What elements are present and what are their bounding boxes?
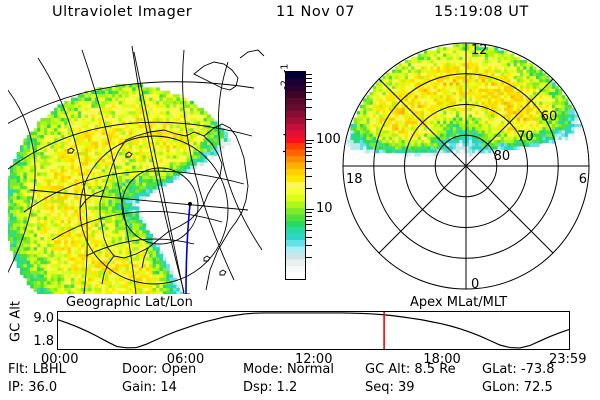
aurora-cell <box>491 86 495 90</box>
aurora-cell <box>64 138 68 142</box>
aurora-cell <box>427 86 431 90</box>
aurora-cell <box>142 166 146 170</box>
aurora-cell <box>163 91 167 95</box>
aurora-cell <box>173 162 177 166</box>
aurora-cell <box>398 66 402 70</box>
aurora-cell <box>180 155 184 159</box>
aurora-cell <box>197 155 201 159</box>
aurora-cell <box>427 102 431 106</box>
aurora-cell <box>74 268 78 272</box>
aurora-cell <box>108 108 112 112</box>
aurora-cell <box>85 155 89 159</box>
aurora-cell <box>510 111 514 115</box>
aurora-cell <box>115 111 119 115</box>
aurora-cell <box>440 124 444 128</box>
aurora-cell <box>54 240 58 244</box>
aurora-cell <box>159 125 163 129</box>
aurora-cell <box>418 146 422 150</box>
aurora-cell <box>85 227 89 231</box>
aurora-cell <box>427 146 431 150</box>
aurora-cell <box>498 140 502 144</box>
aurora-cell <box>108 217 112 221</box>
aurora-cell <box>17 227 21 231</box>
aurora-cell <box>139 223 143 227</box>
aurora-cell <box>112 220 116 224</box>
aurora-cell <box>88 274 92 278</box>
aurora-cell <box>64 257 68 261</box>
aurora-cell <box>376 150 380 154</box>
aurora-cell <box>204 111 208 115</box>
aurora-cell <box>142 220 146 224</box>
aurora-cell <box>30 261 34 265</box>
aurora-cell <box>469 143 473 147</box>
aurora-cell <box>64 217 68 221</box>
aurora-cell <box>430 63 434 67</box>
aurora-cell <box>146 230 150 234</box>
aurora-cell <box>434 82 438 86</box>
aurora-cell <box>17 240 21 244</box>
aurora-cell <box>74 104 78 108</box>
aurora-cell <box>204 159 208 163</box>
aurora-cell <box>176 291 180 294</box>
aurora-cell <box>386 111 390 115</box>
aurora-cell <box>102 254 106 258</box>
aurora-cell <box>68 247 72 251</box>
aurora-cell <box>122 111 126 115</box>
aurora-cell <box>170 121 174 125</box>
aurora-cell <box>507 95 511 99</box>
aurora-cell <box>163 98 167 102</box>
aurora-cell <box>129 159 133 163</box>
aurora-cell <box>64 128 68 132</box>
aurora-cell <box>173 104 177 108</box>
aurora-cell <box>102 203 106 207</box>
aurora-cell <box>13 193 17 197</box>
aurora-cell <box>102 285 106 289</box>
aurora-cell <box>421 98 425 102</box>
aurora-cell <box>405 76 409 80</box>
aurora-cell <box>112 274 116 278</box>
aurora-cell <box>91 91 95 95</box>
aurora-cell <box>125 145 129 149</box>
aurora-cell <box>68 138 72 142</box>
aurora-cell <box>125 125 129 129</box>
aurora-cell <box>37 179 41 183</box>
aurora-cell <box>51 149 55 153</box>
aurora-cell <box>136 125 140 129</box>
aurora-cell <box>142 176 146 180</box>
aurora-cell <box>136 118 140 122</box>
aurora-cell <box>170 285 174 289</box>
aurora-cell <box>427 63 431 67</box>
aurora-cell <box>47 268 51 272</box>
aurora-cell <box>47 213 51 217</box>
aurora-cell <box>395 70 399 74</box>
aurora-cell <box>443 130 447 134</box>
aurora-cell <box>98 281 102 285</box>
aurora-cell <box>180 162 184 166</box>
aurora-cell <box>514 105 518 109</box>
aurora-cell <box>491 114 495 118</box>
aurora-cell <box>54 108 58 112</box>
aurora-cell <box>40 193 44 197</box>
aurora-cell <box>88 257 92 261</box>
aurora-cell <box>105 104 109 108</box>
aurora-cell <box>386 127 390 131</box>
aurora-cell <box>366 108 370 112</box>
aurora-cell <box>163 108 167 112</box>
aurora-cell <box>23 189 27 193</box>
aurora-cell <box>71 186 75 190</box>
aurora-cell <box>366 140 370 144</box>
aurora-cell <box>64 145 68 149</box>
aurora-cell <box>61 159 65 163</box>
aurora-cell <box>498 121 502 125</box>
aurora-cell <box>392 73 396 77</box>
aurora-cell <box>156 285 160 289</box>
aurora-cell <box>40 244 44 248</box>
aurora-cell <box>156 268 160 272</box>
aurora-cell <box>20 152 24 156</box>
aurora-cell <box>395 118 399 122</box>
aurora-cell <box>68 271 72 275</box>
aurora-cell <box>421 102 425 106</box>
aurora-cell <box>57 200 61 204</box>
aurora-cell <box>475 114 479 118</box>
colorbar-minor-tick <box>306 99 312 100</box>
aurora-cell <box>64 213 68 217</box>
aurora-cell <box>176 166 180 170</box>
aurora-cell <box>85 115 89 119</box>
aurora-cell <box>57 291 61 294</box>
aurora-cell <box>98 251 102 255</box>
aurora-cell <box>421 127 425 131</box>
aurora-cell <box>539 102 543 106</box>
aurora-cell <box>450 47 454 51</box>
aurora-cell <box>115 206 119 210</box>
aurora-cell <box>453 127 457 131</box>
aurora-cell <box>119 268 123 272</box>
aurora-cell <box>57 220 61 224</box>
aurora-cell <box>491 79 495 83</box>
aurora-cell <box>440 98 444 102</box>
aurora-cell <box>34 271 38 275</box>
aurora-cell <box>170 172 174 176</box>
aurora-cell <box>44 138 48 142</box>
aurora-cell <box>95 223 99 227</box>
aurora-cell <box>459 63 463 67</box>
aurora-cell <box>517 92 521 96</box>
aurora-cell <box>68 104 72 108</box>
aurora-cell <box>125 111 129 115</box>
aurora-cell <box>54 186 58 190</box>
aurora-cell <box>430 137 434 141</box>
aurora-cell <box>411 98 415 102</box>
aurora-cell <box>156 274 160 278</box>
colorbar-minor-tick <box>306 82 312 83</box>
aurora-cell <box>139 285 143 289</box>
aurora-cell <box>459 130 463 134</box>
aurora-cell <box>54 200 58 204</box>
aurora-cell <box>504 134 508 138</box>
aurora-cell <box>95 203 99 207</box>
aurora-cell <box>139 179 143 183</box>
colorbar-scale[interactable] <box>285 71 306 280</box>
aurora-cell <box>405 63 409 67</box>
aurora-cell <box>491 47 495 51</box>
aurora-cell <box>173 291 177 294</box>
aurora-cell <box>61 227 65 231</box>
aurora-cell <box>74 240 78 244</box>
aurora-cell <box>129 206 133 210</box>
aurora-cell <box>408 79 412 83</box>
aurora-cell <box>402 63 406 67</box>
aurora-cell <box>398 118 402 122</box>
aurora-cell <box>159 91 163 95</box>
aurora-cell <box>204 149 208 153</box>
aurora-cell <box>173 108 177 112</box>
aurora-cell <box>88 230 92 234</box>
aurora-cell <box>64 285 68 289</box>
aurora-cell <box>95 244 99 248</box>
aurora-cell <box>119 288 123 292</box>
aurora-cell <box>379 98 383 102</box>
aurora-cell <box>88 206 92 210</box>
aurora-cell <box>357 150 361 154</box>
aurora-cell <box>78 281 82 285</box>
aurora-cell <box>37 135 41 139</box>
aurora-cell <box>115 159 119 163</box>
aurora-cell <box>34 138 38 142</box>
aurora-cell <box>122 94 126 98</box>
aurora-cell <box>139 121 143 125</box>
aurora-cell <box>115 189 119 193</box>
aurora-cell <box>129 189 133 193</box>
aurora-cell <box>112 281 116 285</box>
aurora-cell <box>81 264 85 268</box>
aurora-cell <box>153 288 157 292</box>
aurora-cell <box>539 105 543 109</box>
aurora-cell <box>125 166 129 170</box>
aurora-cell <box>129 268 133 272</box>
aurora-cell <box>491 54 495 58</box>
aurora-cell <box>44 155 48 159</box>
aurora-cell <box>40 264 44 268</box>
aurora-cell <box>494 54 498 58</box>
aurora-cell <box>132 261 136 265</box>
aurora-cell <box>51 200 55 204</box>
aurora-cell <box>108 285 112 289</box>
aurora-cell <box>153 101 157 105</box>
aurora-cell <box>411 76 415 80</box>
aurora-cell <box>37 240 41 244</box>
aurora-cell <box>504 140 508 144</box>
aurora-cell <box>125 179 129 183</box>
aurora-cell <box>459 108 463 112</box>
aurora-cell <box>443 114 447 118</box>
aurora-cell <box>129 98 133 102</box>
aurora-cell <box>221 142 225 146</box>
aurora-cell <box>112 288 116 292</box>
aurora-cell <box>88 213 92 217</box>
aurora-cell <box>13 240 17 244</box>
aurora-cell <box>494 73 498 77</box>
aurora-cell <box>81 210 85 214</box>
aurora-cell <box>34 285 38 289</box>
aurora-cell <box>78 227 82 231</box>
aurora-cell <box>430 73 434 77</box>
aurora-cell <box>122 251 126 255</box>
aurora-cell <box>51 132 55 136</box>
aurora-cell <box>95 220 99 224</box>
aurora-cell <box>482 86 486 90</box>
aurora-cell <box>13 166 17 170</box>
aurora-cell <box>139 128 143 132</box>
aurora-cell <box>357 124 361 128</box>
aurora-cell <box>47 227 51 231</box>
aurora-cell <box>437 57 441 61</box>
aurora-cell <box>81 244 85 248</box>
aurora-cell <box>13 179 17 183</box>
aurora-cell <box>376 124 380 128</box>
aurora-cell <box>357 114 361 118</box>
aurora-cell <box>112 176 116 180</box>
aurora-cell <box>163 118 167 122</box>
aurora-cell <box>88 115 92 119</box>
aurora-cell <box>95 240 99 244</box>
aurora-cell <box>78 247 82 251</box>
aurora-cell <box>146 227 150 231</box>
aurora-cell <box>44 278 48 282</box>
aurora-cell <box>187 111 191 115</box>
aurora-cell <box>98 132 102 136</box>
aurora-cell <box>402 140 406 144</box>
aurora-cell <box>125 132 129 136</box>
aurora-cell <box>30 254 34 258</box>
aurora-cell <box>10 169 14 173</box>
aurora-cell <box>78 142 82 146</box>
aurora-cell <box>510 105 514 109</box>
aurora-cell <box>204 145 208 149</box>
aurora-cell <box>363 111 367 115</box>
aurora-cell <box>51 251 55 255</box>
aurora-cell <box>427 82 431 86</box>
aurora-cell <box>200 138 204 142</box>
aurora-cell <box>78 189 82 193</box>
aurora-cell <box>421 86 425 90</box>
aurora-cell <box>95 179 99 183</box>
aurora-cell <box>469 89 473 93</box>
aurora-cell <box>386 102 390 106</box>
aurora-cell <box>427 95 431 99</box>
aurora-cell <box>30 183 34 187</box>
apex-mlat-mlt-dial[interactable]: 121860607080 <box>340 42 594 294</box>
aurora-cell <box>370 95 374 99</box>
aurora-cell <box>424 89 428 93</box>
aurora-cell <box>34 261 38 265</box>
aurora-cell <box>78 149 82 153</box>
observation-date: 11 Nov 07 <box>276 4 355 20</box>
aurora-cell <box>366 134 370 138</box>
aurora-cell <box>446 121 450 125</box>
aurora-cell <box>64 244 68 248</box>
aurora-cell <box>180 166 184 170</box>
aurora-cell <box>61 179 65 183</box>
aurora-cell <box>71 200 75 204</box>
aurora-cell <box>57 278 61 282</box>
aurora-cell <box>108 264 112 268</box>
aurora-cell <box>142 128 146 132</box>
aurora-cell <box>443 47 447 51</box>
aurora-cell <box>491 50 495 54</box>
aurora-cell <box>504 57 508 61</box>
aurora-cell <box>414 140 418 144</box>
aurora-cell <box>105 274 109 278</box>
aurora-cell <box>57 104 61 108</box>
aurora-cell <box>91 159 95 163</box>
aurora-cell <box>47 135 51 139</box>
aurora-cell <box>482 79 486 83</box>
geographic-polar-plot[interactable] <box>8 44 266 294</box>
aurora-cell <box>507 79 511 83</box>
aurora-cell <box>523 86 527 90</box>
aurora-cell <box>115 264 119 268</box>
aurora-cell <box>122 234 126 238</box>
aurora-cell <box>456 54 460 58</box>
aurora-cell <box>405 121 409 125</box>
aurora-cell <box>478 124 482 128</box>
aurora-cell <box>153 278 157 282</box>
aurora-cell <box>129 203 133 207</box>
aurora-cell <box>366 121 370 125</box>
aurora-cell <box>437 130 441 134</box>
aurora-cell <box>136 227 140 231</box>
aurora-cell <box>23 244 27 248</box>
aurora-cell <box>102 128 106 132</box>
aurora-cell <box>478 86 482 90</box>
aurora-cell <box>389 105 393 109</box>
aurora-cell <box>108 240 112 244</box>
aurora-cell <box>166 179 170 183</box>
aurora-cell <box>459 76 463 80</box>
aurora-cell <box>119 135 123 139</box>
aurora-cell <box>389 146 393 150</box>
aurora-cell <box>102 291 106 294</box>
aurora-cell <box>542 95 546 99</box>
aurora-cell <box>437 92 441 96</box>
aurora-cell <box>221 132 225 136</box>
aurora-cell <box>125 264 129 268</box>
aurora-cell <box>57 247 61 251</box>
aurora-cell <box>108 237 112 241</box>
aurora-cell <box>414 73 418 77</box>
aurora-cell <box>30 220 34 224</box>
aurora-cell <box>411 66 415 70</box>
aurora-cell <box>485 121 489 125</box>
aurora-cell <box>408 60 412 64</box>
aurora-cell <box>78 94 82 98</box>
aurora-cell <box>91 223 95 227</box>
aurora-cell <box>504 60 508 64</box>
aurora-cell <box>430 92 434 96</box>
aurora-cell <box>517 95 521 99</box>
aurora-cell <box>488 86 492 90</box>
aurora-cell <box>469 86 473 90</box>
aurora-cell <box>51 234 55 238</box>
aurora-cell <box>40 125 44 129</box>
aurora-cell <box>159 152 163 156</box>
aurora-cell <box>163 94 167 98</box>
